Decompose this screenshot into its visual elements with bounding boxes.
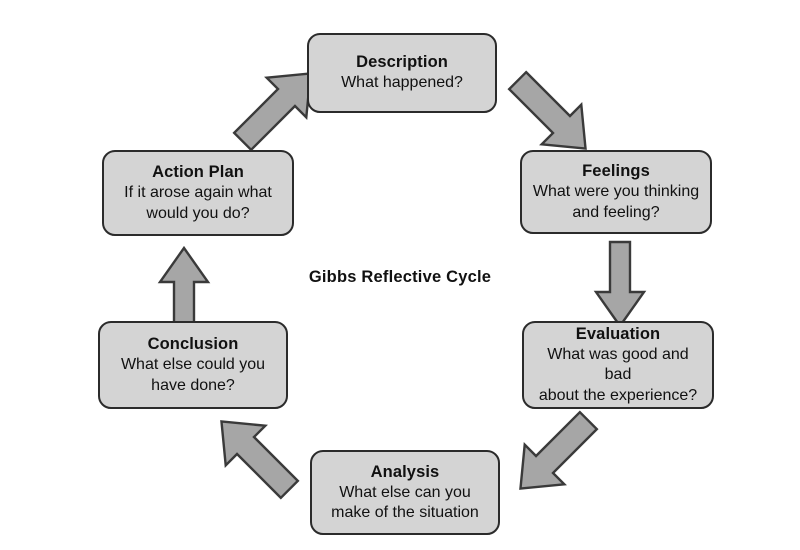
node-action-plan[interactable]: Action Plan If it arose again what would… [102,150,294,236]
node-evaluation[interactable]: Evaluation What was good and bad about t… [522,321,714,409]
node-conclusion[interactable]: Conclusion What else could you have done… [98,321,288,409]
node-evaluation-line-1: What was good and bad [532,345,704,385]
node-analysis[interactable]: Analysis What else can you make of the s… [310,450,500,535]
arrow-analysis-to-conclusion [200,410,310,502]
node-analysis-line-1: What else can you [339,483,471,503]
node-feelings-line-1: What were you thinking [533,182,699,202]
node-conclusion-line-1: What else could you [121,355,265,375]
node-conclusion-line-2: have done? [151,376,235,396]
node-description[interactable]: Description What happened? [307,33,497,113]
node-conclusion-title: Conclusion [148,334,239,355]
node-evaluation-line-2: about the experience? [539,386,697,406]
node-action-plan-line-1: If it arose again what [124,183,272,203]
arrow-evaluation-to-analysis [497,410,607,502]
node-feelings-title: Feelings [582,161,650,182]
node-action-plan-title: Action Plan [152,162,244,183]
node-analysis-title: Analysis [371,462,440,483]
node-evaluation-title: Evaluation [576,324,660,345]
node-feelings-line-2: and feeling? [572,203,659,223]
node-analysis-line-2: make of the situation [331,503,479,523]
node-description-line-1: What happened? [341,73,463,93]
node-description-title: Description [356,52,448,73]
diagram-title: Gibbs Reflective Cycle [0,268,800,287]
node-feelings[interactable]: Feelings What were you thinking and feel… [520,150,712,234]
node-action-plan-line-2: would you do? [146,204,249,224]
diagram-canvas: Description What happened? Feelings What… [0,0,800,550]
arrow-description-to-feelings [497,70,607,162]
